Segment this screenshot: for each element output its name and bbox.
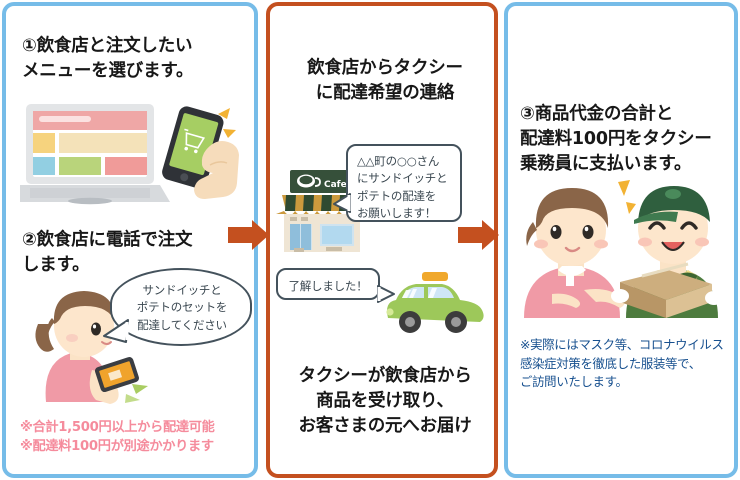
- shop-request-bubble-tail: [332, 192, 352, 216]
- step1-panel-notes: ※合計1,500円以上から配達可能 ※配達料100円が別途かかります: [20, 418, 258, 456]
- laptop-and-smartphone-illustration: [20, 102, 240, 207]
- arrow-shaft: [458, 227, 484, 243]
- step3-heading: ③商品代金の合計と 配達料100円をタクシー 乗務員に支払います。: [520, 102, 738, 177]
- cafe-sign-text: Cafe: [324, 180, 347, 190]
- panel-step-3: ③商品代金の合計と 配達料100円をタクシー 乗務員に支払います。: [504, 2, 738, 478]
- customer-and-driver-illustration: [514, 178, 732, 320]
- shop-request-bubble: △△町の○○さん にサンドイッチと ポテトの配達を お願いします！: [346, 144, 462, 222]
- taxi-reply-bubble: 了解しました！: [276, 268, 380, 300]
- arrow-shaft: [228, 227, 254, 243]
- panel2-top-heading: 飲食店からタクシー に配達希望の連絡: [278, 56, 492, 106]
- arrow-head: [482, 220, 499, 250]
- customer-order-bubble: サンドイッチと ポテトのセットを 配達してください: [110, 268, 252, 346]
- step3-panel-notes: ※実際にはマスク等、コロナウイルス 感染症対策を徹底した服装等で、 ご訪問いたし…: [520, 336, 738, 392]
- flow-diagram: ①飲食店と注文したい メニューを選びます。: [0, 0, 740, 480]
- arrow-panel2-to-panel3: [458, 220, 502, 250]
- panel2-bottom-heading: タクシーが飲食店から 商品を受け取り、 お客さまの元へお届け: [278, 364, 492, 439]
- customer-order-bubble-tail: [102, 318, 130, 348]
- panel-step-1: ①飲食店と注文したい メニューを選びます。: [2, 2, 258, 478]
- green-taxi-illustration: [380, 270, 488, 342]
- step1-heading: ①飲食店と注文したい メニューを選びます。: [22, 34, 242, 84]
- step2-heading: ②飲食店に電話で注文 します。: [22, 228, 252, 278]
